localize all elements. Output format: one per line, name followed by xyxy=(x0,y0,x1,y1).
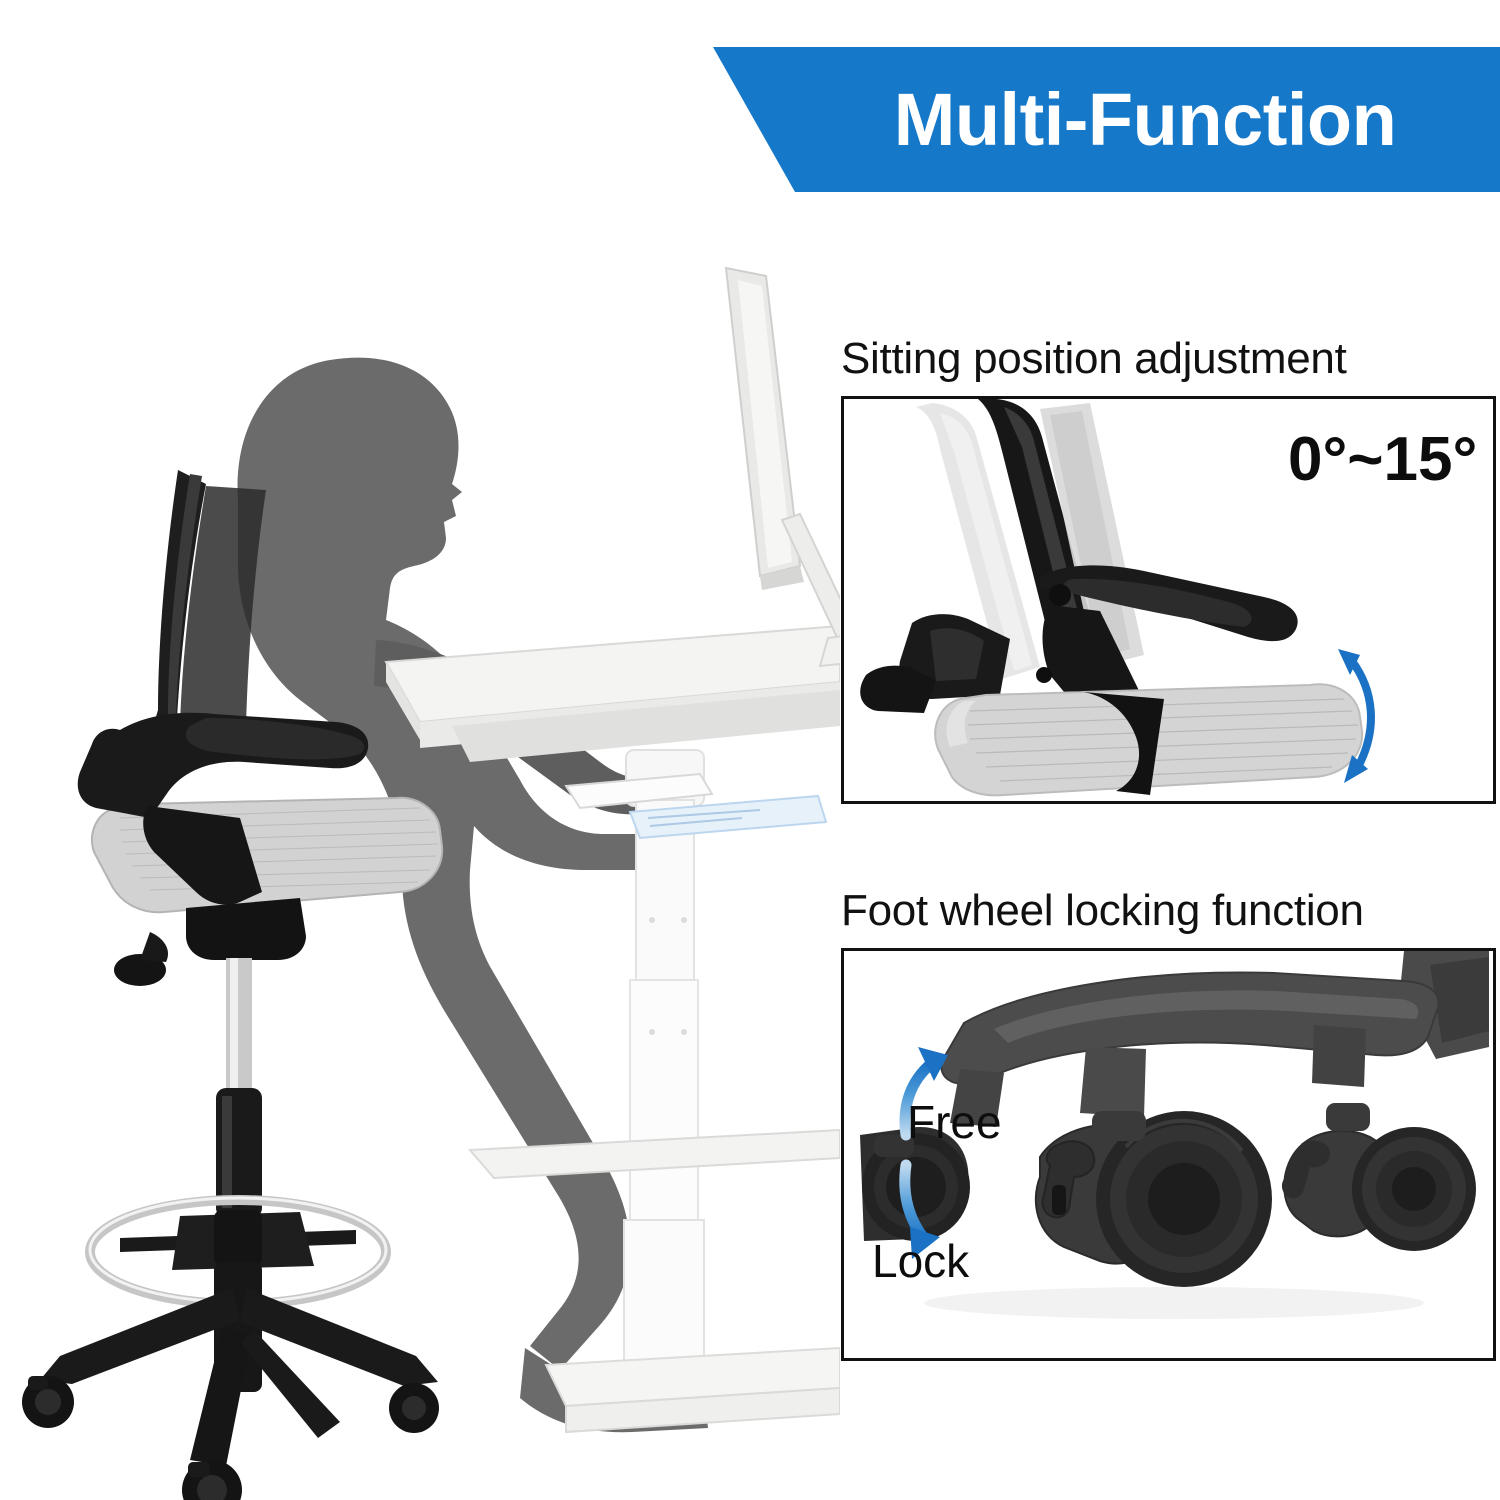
chair-gas-cylinder xyxy=(216,958,262,1218)
desk-accessories xyxy=(566,774,826,838)
caster xyxy=(182,1460,242,1500)
panel-wheel-heading: Foot wheel locking function xyxy=(841,886,1364,936)
tilt-angle-label: 0°~15° xyxy=(1288,424,1477,495)
panel-wheel-locking xyxy=(841,948,1496,1361)
caster xyxy=(389,1383,439,1433)
panel-sitting-heading: Sitting position adjustment xyxy=(841,334,1347,384)
caster xyxy=(22,1376,74,1428)
computer-monitor xyxy=(726,268,840,666)
infographic-canvas: Multi-Function xyxy=(0,0,1500,1500)
chair-base xyxy=(22,1262,439,1500)
wheel-locking-illustration xyxy=(844,951,1489,1354)
chair-backrest xyxy=(152,470,266,736)
banner-title: Multi-Function xyxy=(880,72,1410,168)
main-illustration xyxy=(0,170,840,1500)
wheel-label-lock: Lock xyxy=(872,1234,969,1288)
wheel-label-free: Free xyxy=(907,1095,1002,1149)
